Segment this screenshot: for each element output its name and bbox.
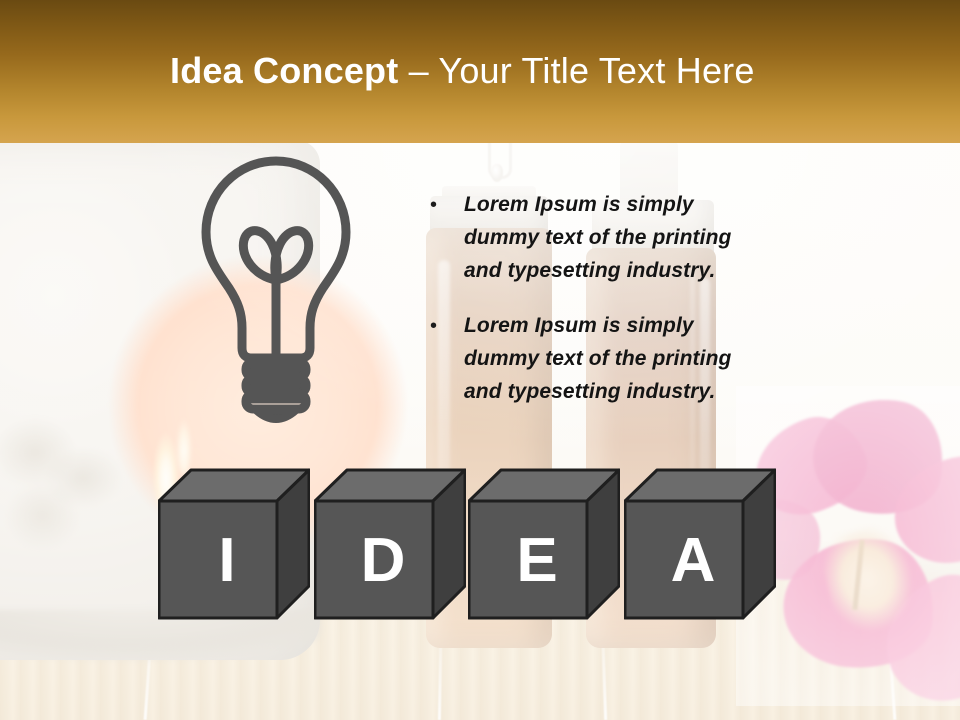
cube-letter-text: E — [468, 502, 606, 620]
list-item: • Lorem Ipsum is simply dummy text of th… — [430, 309, 760, 408]
cube-letter-3: A — [624, 468, 776, 620]
bullet-glyph: • — [430, 309, 464, 408]
title-bar: Idea Concept – Your Title Text Here — [0, 0, 960, 143]
page-title-separator: – — [398, 50, 438, 91]
page-title: Idea Concept – Your Title Text Here — [170, 48, 755, 94]
glass-dropper-pipette — [484, 140, 510, 192]
page-title-light: Your Title Text Here — [438, 50, 754, 91]
cube-letter-1: D — [314, 468, 466, 620]
cube-letter-text: I — [158, 502, 296, 620]
slide-canvas: Idea Concept – Your Title Text Here — [0, 0, 960, 720]
cube-letter-0: I — [158, 468, 310, 620]
cube-letter-text: D — [314, 502, 452, 620]
bullet-text: Lorem Ipsum is simply dummy text of the … — [464, 188, 760, 287]
bullet-text: Lorem Ipsum is simply dummy text of the … — [464, 309, 760, 408]
bullet-glyph: • — [430, 188, 464, 287]
cube-letter-text: A — [624, 502, 762, 620]
cube-letter-2: E — [468, 468, 620, 620]
page-title-bold: Idea Concept — [170, 50, 398, 91]
bullet-list: • Lorem Ipsum is simply dummy text of th… — [430, 188, 760, 430]
candle-flame-secondary — [176, 415, 192, 475]
lightbulb-icon — [196, 152, 356, 430]
idea-cubes: I D E A — [158, 468, 778, 620]
list-item: • Lorem Ipsum is simply dummy text of th… — [430, 188, 760, 287]
